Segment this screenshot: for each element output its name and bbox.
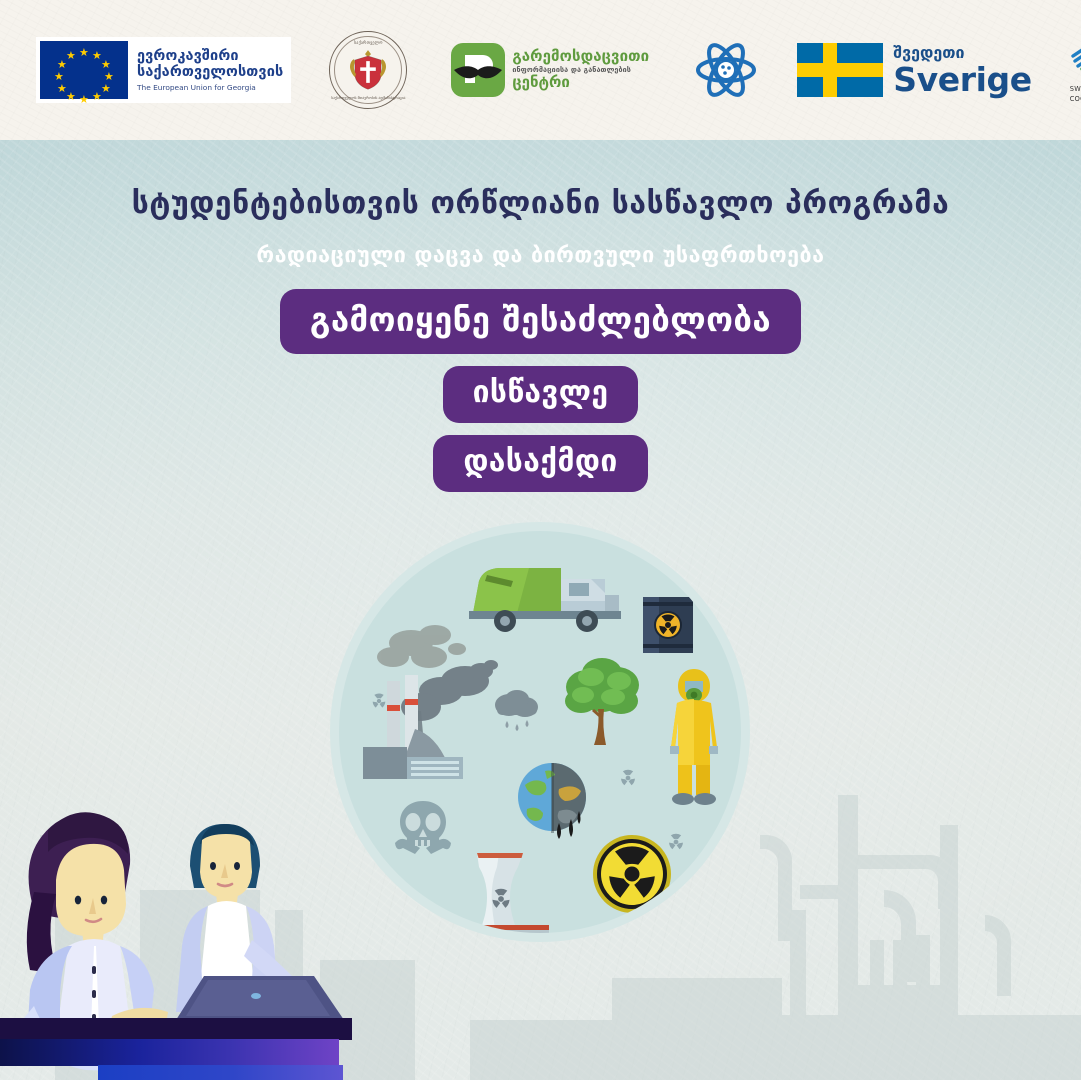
coat-of-arms-caption-top: საქართველო <box>329 40 407 45</box>
badge-employment[interactable]: დასაქმდი <box>433 435 647 492</box>
tree-icon <box>561 653 643 749</box>
badge-study[interactable]: ისწავლე <box>443 366 639 423</box>
desk-gradient-band <box>0 1039 339 1066</box>
eu-line-3: The European Union for Georgia <box>137 84 283 92</box>
eu-line-2: საქართველოსთვის <box>137 64 283 80</box>
nuclear-cooling-tower-icon <box>459 847 559 933</box>
logo-european-union: ★ ★ ★ ★ ★ ★ ★ ★ ★ ★ ★ ★ ევროკავშირი საქა… <box>36 37 291 103</box>
logo-sweden: შვედეთი Sverige <box>797 43 1031 97</box>
polluted-globe-icon <box>515 759 589 845</box>
hazmat-suit-person-icon <box>663 667 725 807</box>
atom-icon <box>695 39 757 101</box>
coat-of-arms-caption-bottom: საქართველოს მთავრობის ადმინისტრაცია <box>329 96 407 101</box>
sweden-flag-icon <box>797 43 883 97</box>
coat-of-arms-icon <box>347 47 389 91</box>
eu-flag-icon: ★ ★ ★ ★ ★ ★ ★ ★ ★ ★ ★ ★ <box>40 41 128 99</box>
radiation-warning-sign-icon <box>591 833 673 915</box>
badge-opportunity[interactable]: გამოიყენე შესაძლებლობა <box>280 289 801 354</box>
logo-environmental-info-education-centre: გარემოსდაცვითი ინფორმაციისა და განათლები… <box>451 43 649 97</box>
radiation-trefoil-small-icon <box>617 767 639 789</box>
sida-subtitle-2: COOPERATION AGENCY <box>1070 95 1081 105</box>
page-subtitle: რადიაციული დაცვა და ბირთვული უსაფრთხოება <box>0 243 1081 268</box>
sweden-logo-text: შვედეთი Sverige <box>893 45 1031 96</box>
logo-sida: Sida SWEDISH INTERNATIONAL DEVELOPMENT C… <box>1070 36 1081 105</box>
poster-root: ★ ★ ★ ★ ★ ★ ★ ★ ★ ★ ★ ★ ევროკავშირი საქა… <box>0 0 1081 1080</box>
eiec-line-1: გარემოსდაცვითი <box>512 48 649 66</box>
desk-gradient-band-lower <box>98 1065 343 1080</box>
eiec-book-icon <box>451 43 505 97</box>
sida-weave-icon <box>1070 36 1081 82</box>
skull-and-crossbones-icon <box>391 799 455 861</box>
logo-government-of-georgia: საქართველო საქართველოს მთავრობის ადმინის… <box>329 31 407 109</box>
radiation-trefoil-small-icon <box>369 691 389 711</box>
desk <box>0 1018 352 1040</box>
rain-cloud-icon <box>489 683 545 739</box>
eu-line-1: ევროკავშირი <box>137 48 283 64</box>
radioactive-barrel-icon <box>639 594 697 656</box>
badge-stack: გამოიყენე შესაძლებლობა ისწავლე დასაქმდი <box>0 289 1081 492</box>
eiec-logo-text: გარემოსდაცვითი ინფორმაციისა და განათლები… <box>512 48 649 92</box>
sponsor-logo-bar: ★ ★ ★ ★ ★ ★ ★ ★ ★ ★ ★ ★ ევროკავშირი საქა… <box>0 0 1081 140</box>
sweden-line-2: Sverige <box>893 63 1031 96</box>
circle-inner <box>339 531 741 933</box>
sweden-line-1: შვედეთი <box>893 45 1031 61</box>
page-title: სტუდენტებისთვის ორწლიანი სასწავლო პროგრა… <box>0 186 1081 221</box>
eu-logo-text: ევროკავშირი საქართველოსთვის The European… <box>137 48 283 92</box>
students-illustration <box>0 770 394 1080</box>
sida-subtitle-1: SWEDISH INTERNATIONAL DEVELOPMENT <box>1070 85 1081 95</box>
logo-row: ★ ★ ★ ★ ★ ★ ★ ★ ★ ★ ★ ★ ევროკავშირი საქა… <box>0 0 1081 140</box>
eiec-line-3: ცენტრი <box>512 74 649 92</box>
